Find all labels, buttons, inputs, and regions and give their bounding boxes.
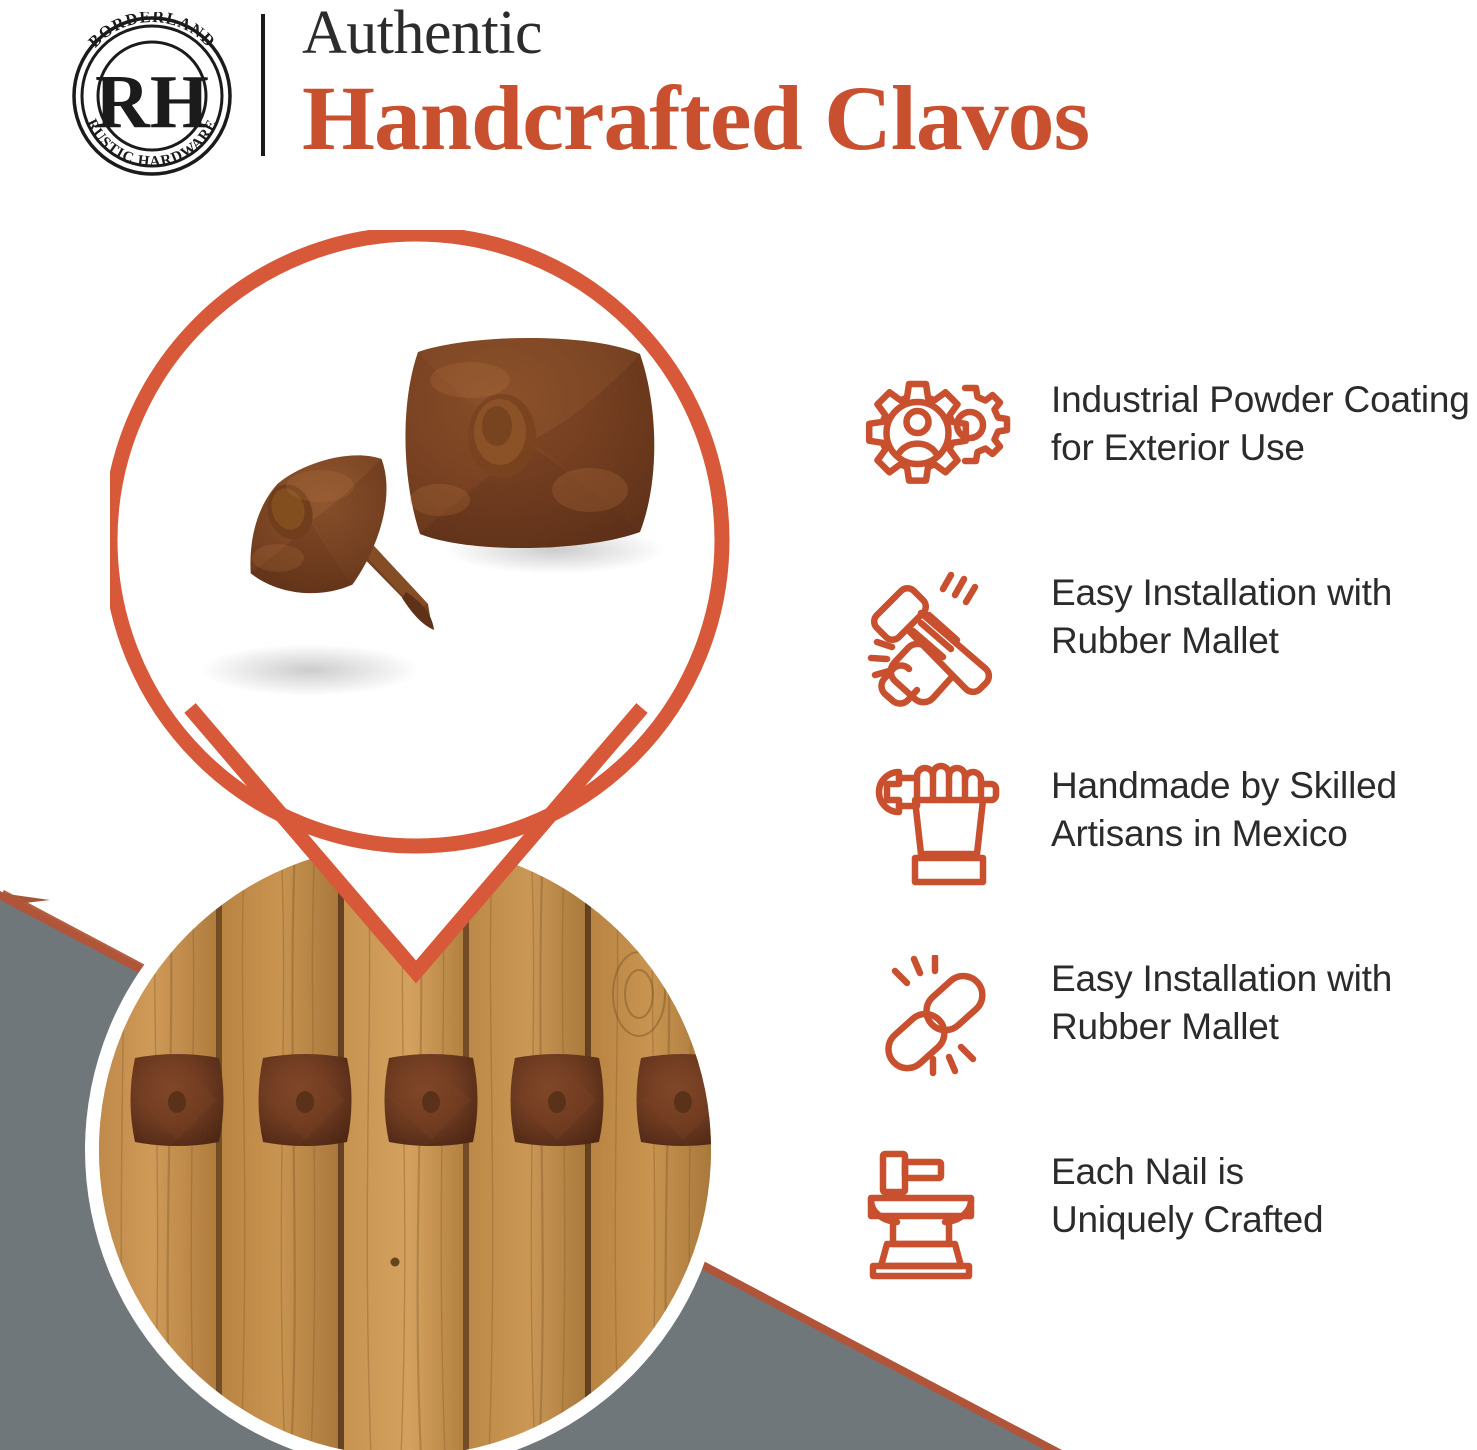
wooden-planks-illustration: [99, 844, 711, 1450]
anvil-hammer-icon: [865, 1148, 1015, 1288]
feature-label-line1: Easy Installation with: [1051, 569, 1471, 617]
header-divider: [261, 14, 265, 156]
borderland-rustic-hardware-logo: BORDERLAND RUSTIC HARDWARE RH: [52, 12, 252, 177]
feature-label: Industrial Powder Coating for Exterior U…: [1051, 376, 1471, 472]
clavo-head-front: [405, 338, 654, 548]
installed-clavo: [131, 1054, 224, 1146]
feature-label-line2: Uniquely Crafted: [1051, 1196, 1471, 1244]
feature-list: Industrial Powder Coating for Exterior U…: [855, 370, 1477, 1335]
feature-label-line2: for Exterior Use: [1051, 424, 1471, 472]
feature-item: Easy Installation with Rubber Mallet: [855, 949, 1477, 1142]
feature-item: Industrial Powder Coating for Exterior U…: [855, 370, 1477, 563]
fist-wrench-icon: [865, 762, 1015, 902]
feature-label-line2: Rubber Mallet: [1051, 617, 1471, 665]
feature-label-line1: Handmade by Skilled: [1051, 762, 1471, 810]
product-imagery: [0, 190, 820, 1450]
installed-clavo: [259, 1054, 352, 1146]
installed-clavo: [511, 1054, 604, 1146]
feature-label-line1: Easy Installation with: [1051, 955, 1471, 1003]
clavos-product-photo: [170, 310, 730, 780]
feature-item: Easy Installation with Rubber Mallet: [855, 563, 1477, 756]
page-title: Handcrafted Clavos: [302, 70, 1089, 166]
feature-label-line1: Each Nail is: [1051, 1148, 1471, 1196]
feature-label-line2: Artisans in Mexico: [1051, 810, 1471, 858]
wood-photo-clip: [99, 844, 711, 1450]
feature-label: Handmade by Skilled Artisans in Mexico: [1051, 762, 1471, 858]
header: BORDERLAND RUSTIC HARDWARE RH Authentic …: [0, 0, 1477, 190]
gear-person-icon: [865, 376, 1015, 516]
feature-label-line2: Rubber Mallet: [1051, 1003, 1471, 1051]
hand-mallet-icon: [865, 569, 1015, 709]
installed-clavo: [637, 1054, 712, 1146]
feature-item: Handmade by Skilled Artisans in Mexico: [855, 756, 1477, 949]
feature-item: Each Nail is Uniquely Crafted: [855, 1142, 1477, 1335]
title-block: Authentic Handcrafted Clavos: [302, 2, 1074, 166]
feature-label-line1: Industrial Powder Coating: [1051, 376, 1471, 424]
feature-label: Each Nail is Uniquely Crafted: [1051, 1148, 1471, 1244]
clavo-head-angled: [240, 452, 434, 630]
logo-monogram: RH: [95, 60, 209, 144]
feature-label: Easy Installation with Rubber Mallet: [1051, 569, 1471, 665]
header-subtitle: Authentic: [302, 2, 1074, 64]
infographic-canvas: BORDERLAND RUSTIC HARDWARE RH Authentic …: [0, 0, 1477, 1450]
installed-clavos-photo: [85, 830, 725, 1450]
installed-clavo: [385, 1054, 478, 1146]
chain-link-icon: [865, 955, 1015, 1095]
feature-label: Easy Installation with Rubber Mallet: [1051, 955, 1471, 1051]
